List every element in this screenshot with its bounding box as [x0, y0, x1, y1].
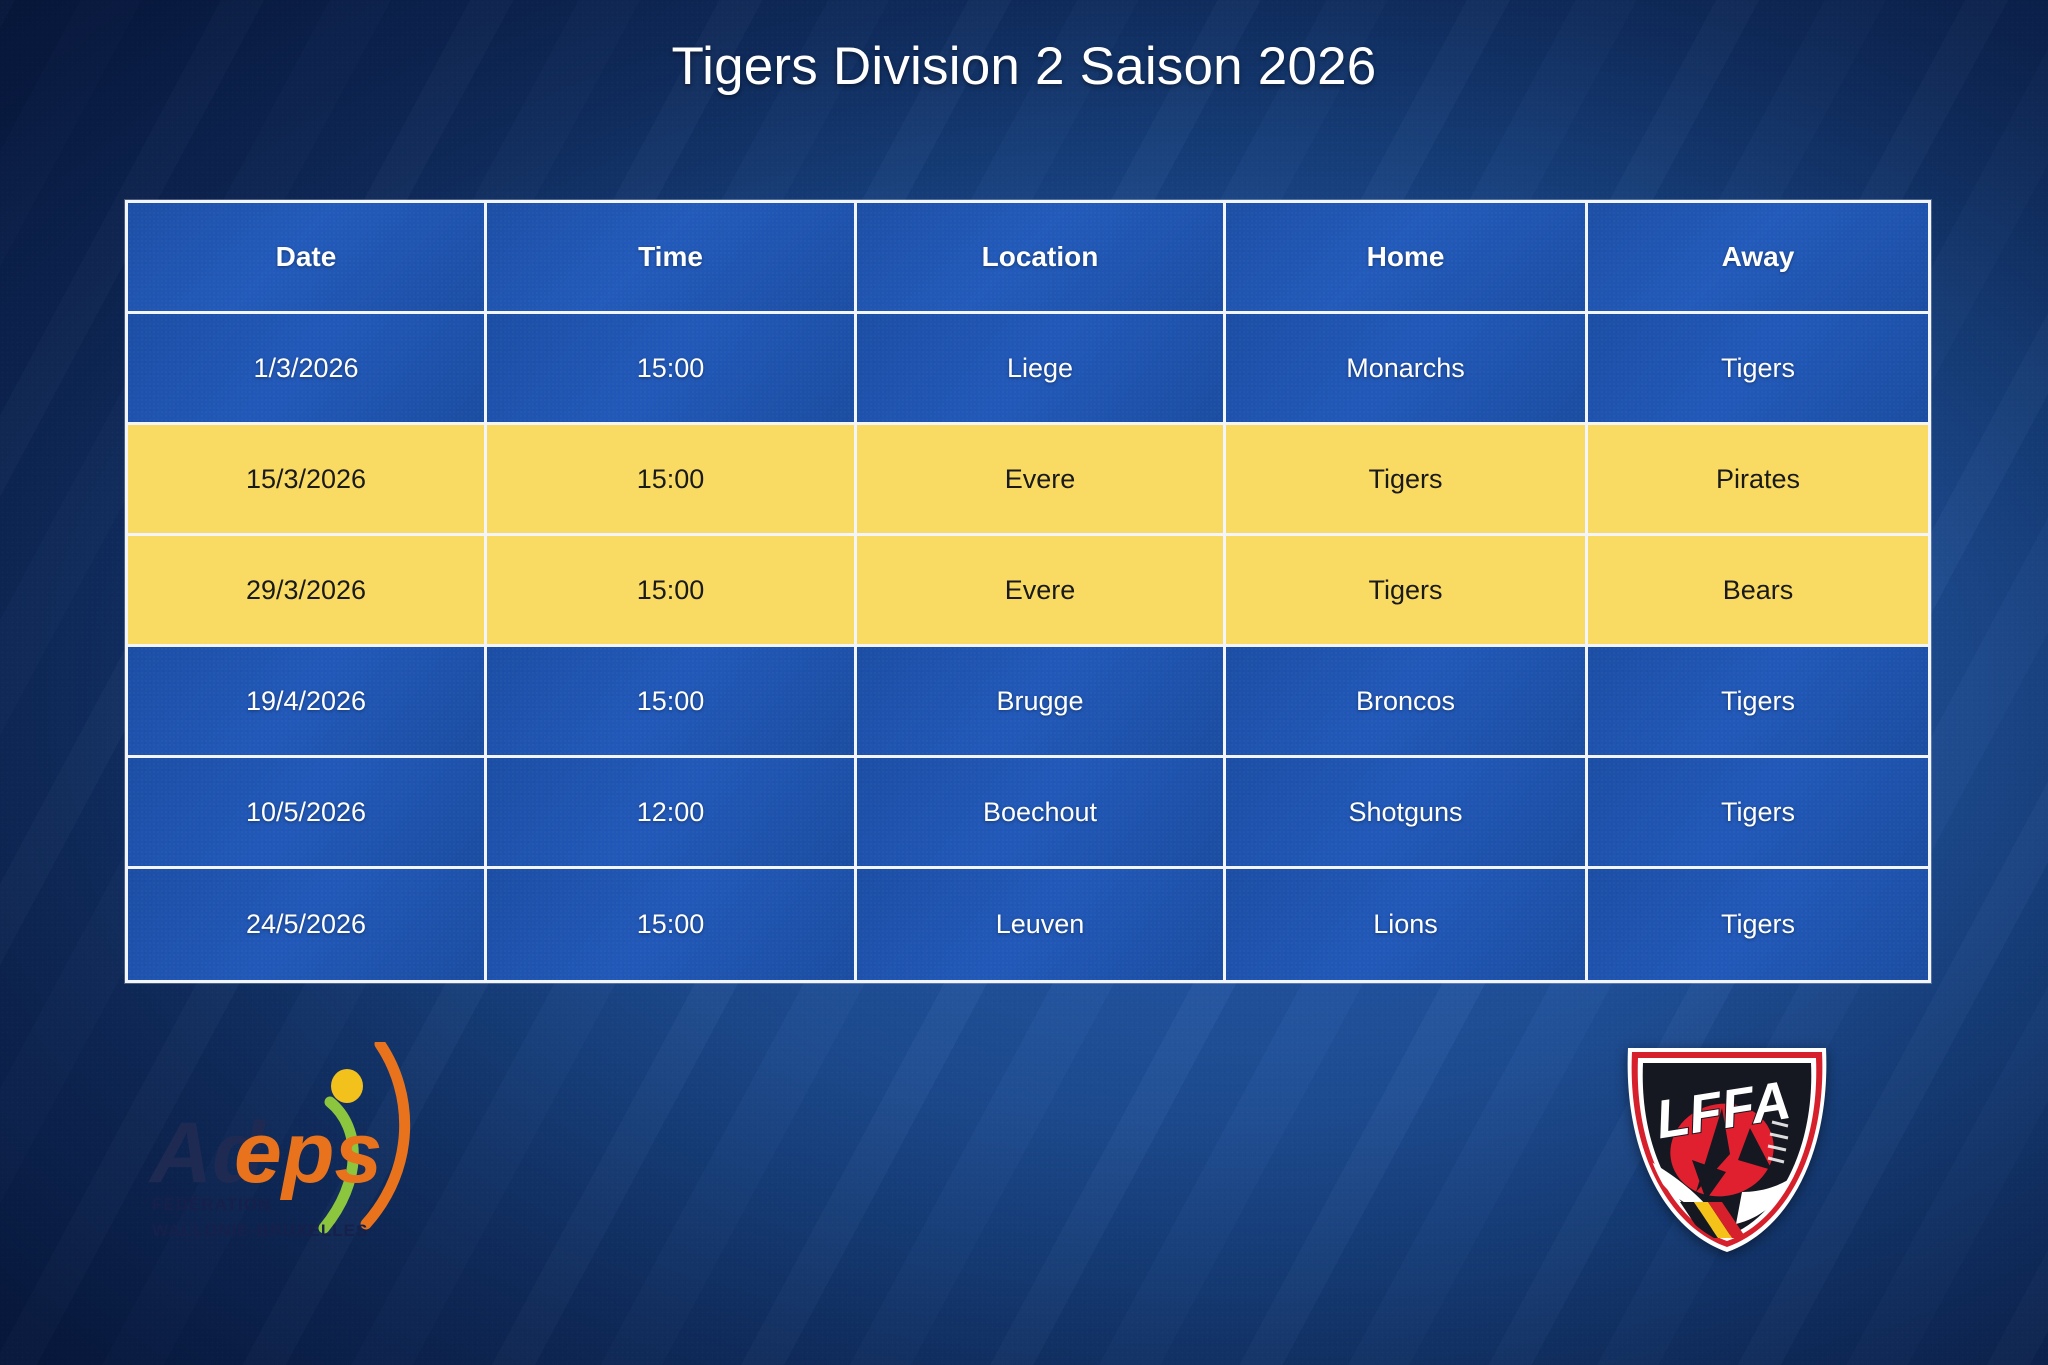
cell-away: Bears [1588, 536, 1928, 647]
column-header-home[interactable]: Home [1226, 203, 1588, 314]
schedule-table: Date Time Location Home Away 1/3/2026 15… [125, 200, 1931, 983]
cell-time: 12:00 [487, 758, 857, 869]
cell-away: Tigers [1588, 314, 1928, 425]
cell-date: 10/5/2026 [128, 758, 487, 869]
adeps-yellow-dot [331, 1069, 363, 1103]
cell-location: Leuven [857, 869, 1226, 980]
cell-time: 15:00 [487, 314, 857, 425]
adeps-logo: Ad eps FÉDÉRATION WALLONIE-BRUXELLES [148, 1042, 438, 1262]
table-header: Date Time Location Home Away [128, 203, 1928, 314]
cell-time: 15:00 [487, 647, 857, 758]
lffa-logo: LFFA [1622, 1042, 1832, 1257]
table-row[interactable]: 1/3/2026 15:00 Liege Monarchs Tigers [128, 314, 1928, 425]
cell-time: 15:00 [487, 425, 857, 536]
cell-home: Monarchs [1226, 314, 1588, 425]
table-header-row: Date Time Location Home Away [128, 203, 1928, 314]
adeps-subtitle-line2: WALLONIE-BRUXELLES [152, 1221, 368, 1240]
table-row[interactable]: 19/4/2026 15:00 Brugge Broncos Tigers [128, 647, 1928, 758]
cell-home: Tigers [1226, 536, 1588, 647]
cell-away: Tigers [1588, 758, 1928, 869]
page-title: Tigers Division 2 Saison 2026 [0, 36, 2048, 97]
cell-date: 19/4/2026 [128, 647, 487, 758]
cell-time: 15:00 [487, 869, 857, 980]
table-body: 1/3/2026 15:00 Liege Monarchs Tigers 15/… [128, 314, 1928, 980]
cell-date: 29/3/2026 [128, 536, 487, 647]
cell-date: 1/3/2026 [128, 314, 487, 425]
cell-home: Tigers [1226, 425, 1588, 536]
cell-location: Boechout [857, 758, 1226, 869]
cell-away: Tigers [1588, 869, 1928, 980]
cell-away: Pirates [1588, 425, 1928, 536]
cell-location: Liege [857, 314, 1226, 425]
table-row[interactable]: 10/5/2026 12:00 Boechout Shotguns Tigers [128, 758, 1928, 869]
cell-home: Lions [1226, 869, 1588, 980]
cell-time: 15:00 [487, 536, 857, 647]
column-header-time[interactable]: Time [487, 203, 857, 314]
cell-location: Brugge [857, 647, 1226, 758]
column-header-date[interactable]: Date [128, 203, 487, 314]
table-row[interactable]: 24/5/2026 15:00 Leuven Lions Tigers [128, 869, 1928, 980]
table-row[interactable]: 15/3/2026 15:00 Evere Tigers Pirates [128, 425, 1928, 536]
cell-home: Broncos [1226, 647, 1588, 758]
cell-location: Evere [857, 536, 1226, 647]
table-row[interactable]: 29/3/2026 15:00 Evere Tigers Bears [128, 536, 1928, 647]
column-header-location[interactable]: Location [857, 203, 1226, 314]
cell-away: Tigers [1588, 647, 1928, 758]
adeps-word-orange: eps [234, 1105, 382, 1201]
cell-date: 24/5/2026 [128, 869, 487, 980]
adeps-subtitle-line1: FÉDÉRATION [152, 1195, 271, 1214]
column-header-away[interactable]: Away [1588, 203, 1928, 314]
cell-home: Shotguns [1226, 758, 1588, 869]
slide-canvas: Tigers Division 2 Saison 2026 Date Time … [0, 0, 2048, 1365]
cell-date: 15/3/2026 [128, 425, 487, 536]
cell-location: Evere [857, 425, 1226, 536]
